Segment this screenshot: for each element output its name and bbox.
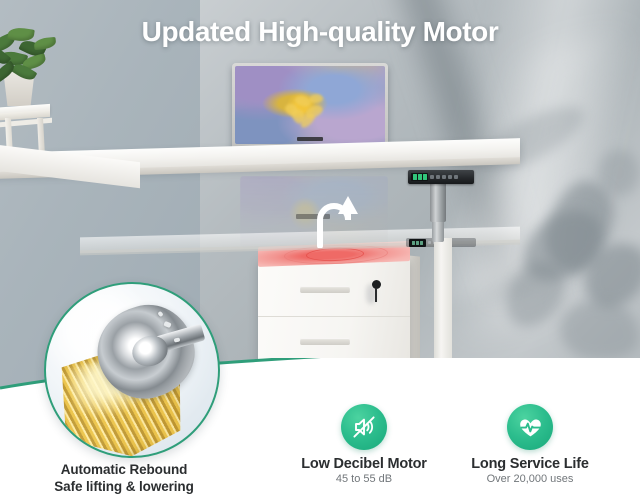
feature-subtitle: 45 to 55 dB [282,473,446,485]
feature-title: Long Service Life [442,456,618,472]
page-title: Updated High-quality Motor [0,16,640,48]
control-panel-button[interactable] [448,175,452,179]
rebound-arrow-icon [312,190,372,248]
control-panel-button[interactable] [430,175,434,179]
feature-row: Low Decibel Motor 45 to 55 dB Long Servi… [0,404,640,503]
muted-speaker-icon [341,404,387,450]
desk-leg-post [434,238,452,366]
desk-leg-motor-column [430,178,446,222]
laptop-lid [232,63,388,151]
feature-title: Low Decibel Motor [282,456,446,472]
laptop [232,63,388,155]
led-segment [413,174,417,180]
led-segment [418,174,422,180]
control-display-ghost [409,239,426,247]
laptop-brand-badge [297,137,323,141]
heart-pulse-icon [507,404,553,450]
cabinet-drawer-handle [300,286,350,293]
product-feature-banner: Updated High-quality Motor Automatic Reb… [0,0,640,503]
desk-control-panel[interactable] [408,170,474,184]
feature-low-decibel-motor: Low Decibel Motor 45 to 55 dB [282,404,446,485]
control-panel-display [411,173,428,181]
cabinet-drawer-divider [258,316,410,317]
control-panel-button[interactable] [436,175,440,179]
feature-long-service-life: Long Service Life Over 20,000 uses [442,404,618,485]
cabinet-key-icon [375,288,377,302]
control-panel-button[interactable] [442,175,446,179]
laptop-screen [235,66,385,144]
feature-subtitle: Over 20,000 uses [442,473,618,485]
led-segment [423,174,427,180]
cabinet-drawer-handle [300,338,350,345]
control-panel-button[interactable] [454,175,458,179]
